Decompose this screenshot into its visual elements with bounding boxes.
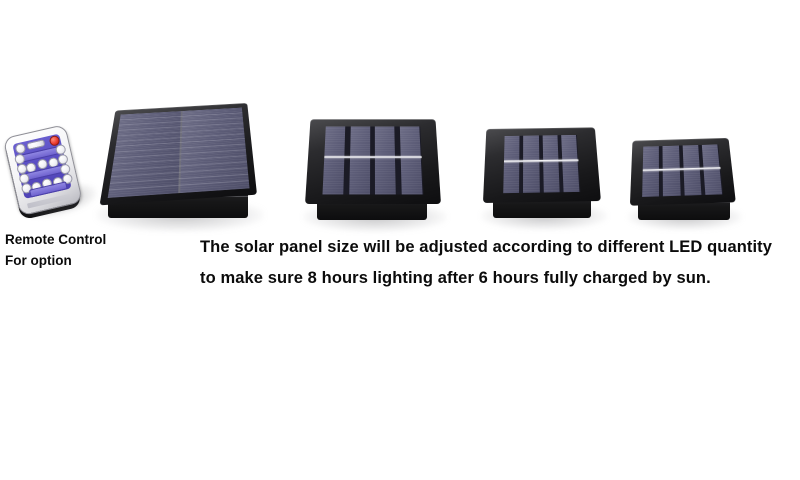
solar-panel-1-pv-laminate xyxy=(108,108,250,198)
solar-panel-2-busbar xyxy=(324,157,422,159)
solar-panel-4-frame xyxy=(630,138,736,206)
solar-panel-4-pv-laminate xyxy=(642,144,723,197)
solar-panel-4-cell-4 xyxy=(702,144,722,194)
solar-panel-3-cell-2 xyxy=(523,136,539,193)
remote-caption-line-2: For option xyxy=(5,250,175,271)
solar-panel-3-cell-4 xyxy=(561,135,580,192)
solar-panel-2 xyxy=(305,108,445,226)
solar-panel-2-cell-2 xyxy=(349,127,370,195)
solar-panel-4-cell-3 xyxy=(682,145,701,196)
remote-control-keypad xyxy=(12,134,71,199)
solar-panel-1 xyxy=(100,72,260,224)
remote-control-body xyxy=(3,124,83,216)
solar-panel-3-frame xyxy=(483,127,601,203)
solar-panel-3-pv-laminate xyxy=(503,135,580,193)
solar-panel-3-cell-3 xyxy=(542,135,559,192)
solar-panel-2-cell-1 xyxy=(322,127,345,195)
main-description-text: The solar panel size will be adjusted ac… xyxy=(200,232,780,294)
solar-panel-2-cell-4 xyxy=(399,127,422,195)
product-photo-stage: Remote Control For option The solar pane… xyxy=(0,0,800,480)
solar-panel-1-frame xyxy=(99,103,257,205)
solar-panel-4 xyxy=(630,128,740,224)
remote-caption-line-1: Remote Control xyxy=(5,229,175,250)
solar-panel-4-cell-1 xyxy=(642,146,659,197)
remote-button-r0c2 xyxy=(26,139,45,150)
solar-panel-4-cell-2 xyxy=(663,146,680,197)
solar-panel-3 xyxy=(483,118,605,222)
remote-control-caption: Remote Control For option xyxy=(5,229,175,271)
remote-control xyxy=(3,120,104,228)
solar-panel-2-pv-laminate xyxy=(322,127,423,195)
solar-panel-3-cell-1 xyxy=(503,136,520,193)
solar-panel-2-frame xyxy=(305,119,441,204)
solar-panel-2-cell-3 xyxy=(375,127,396,195)
